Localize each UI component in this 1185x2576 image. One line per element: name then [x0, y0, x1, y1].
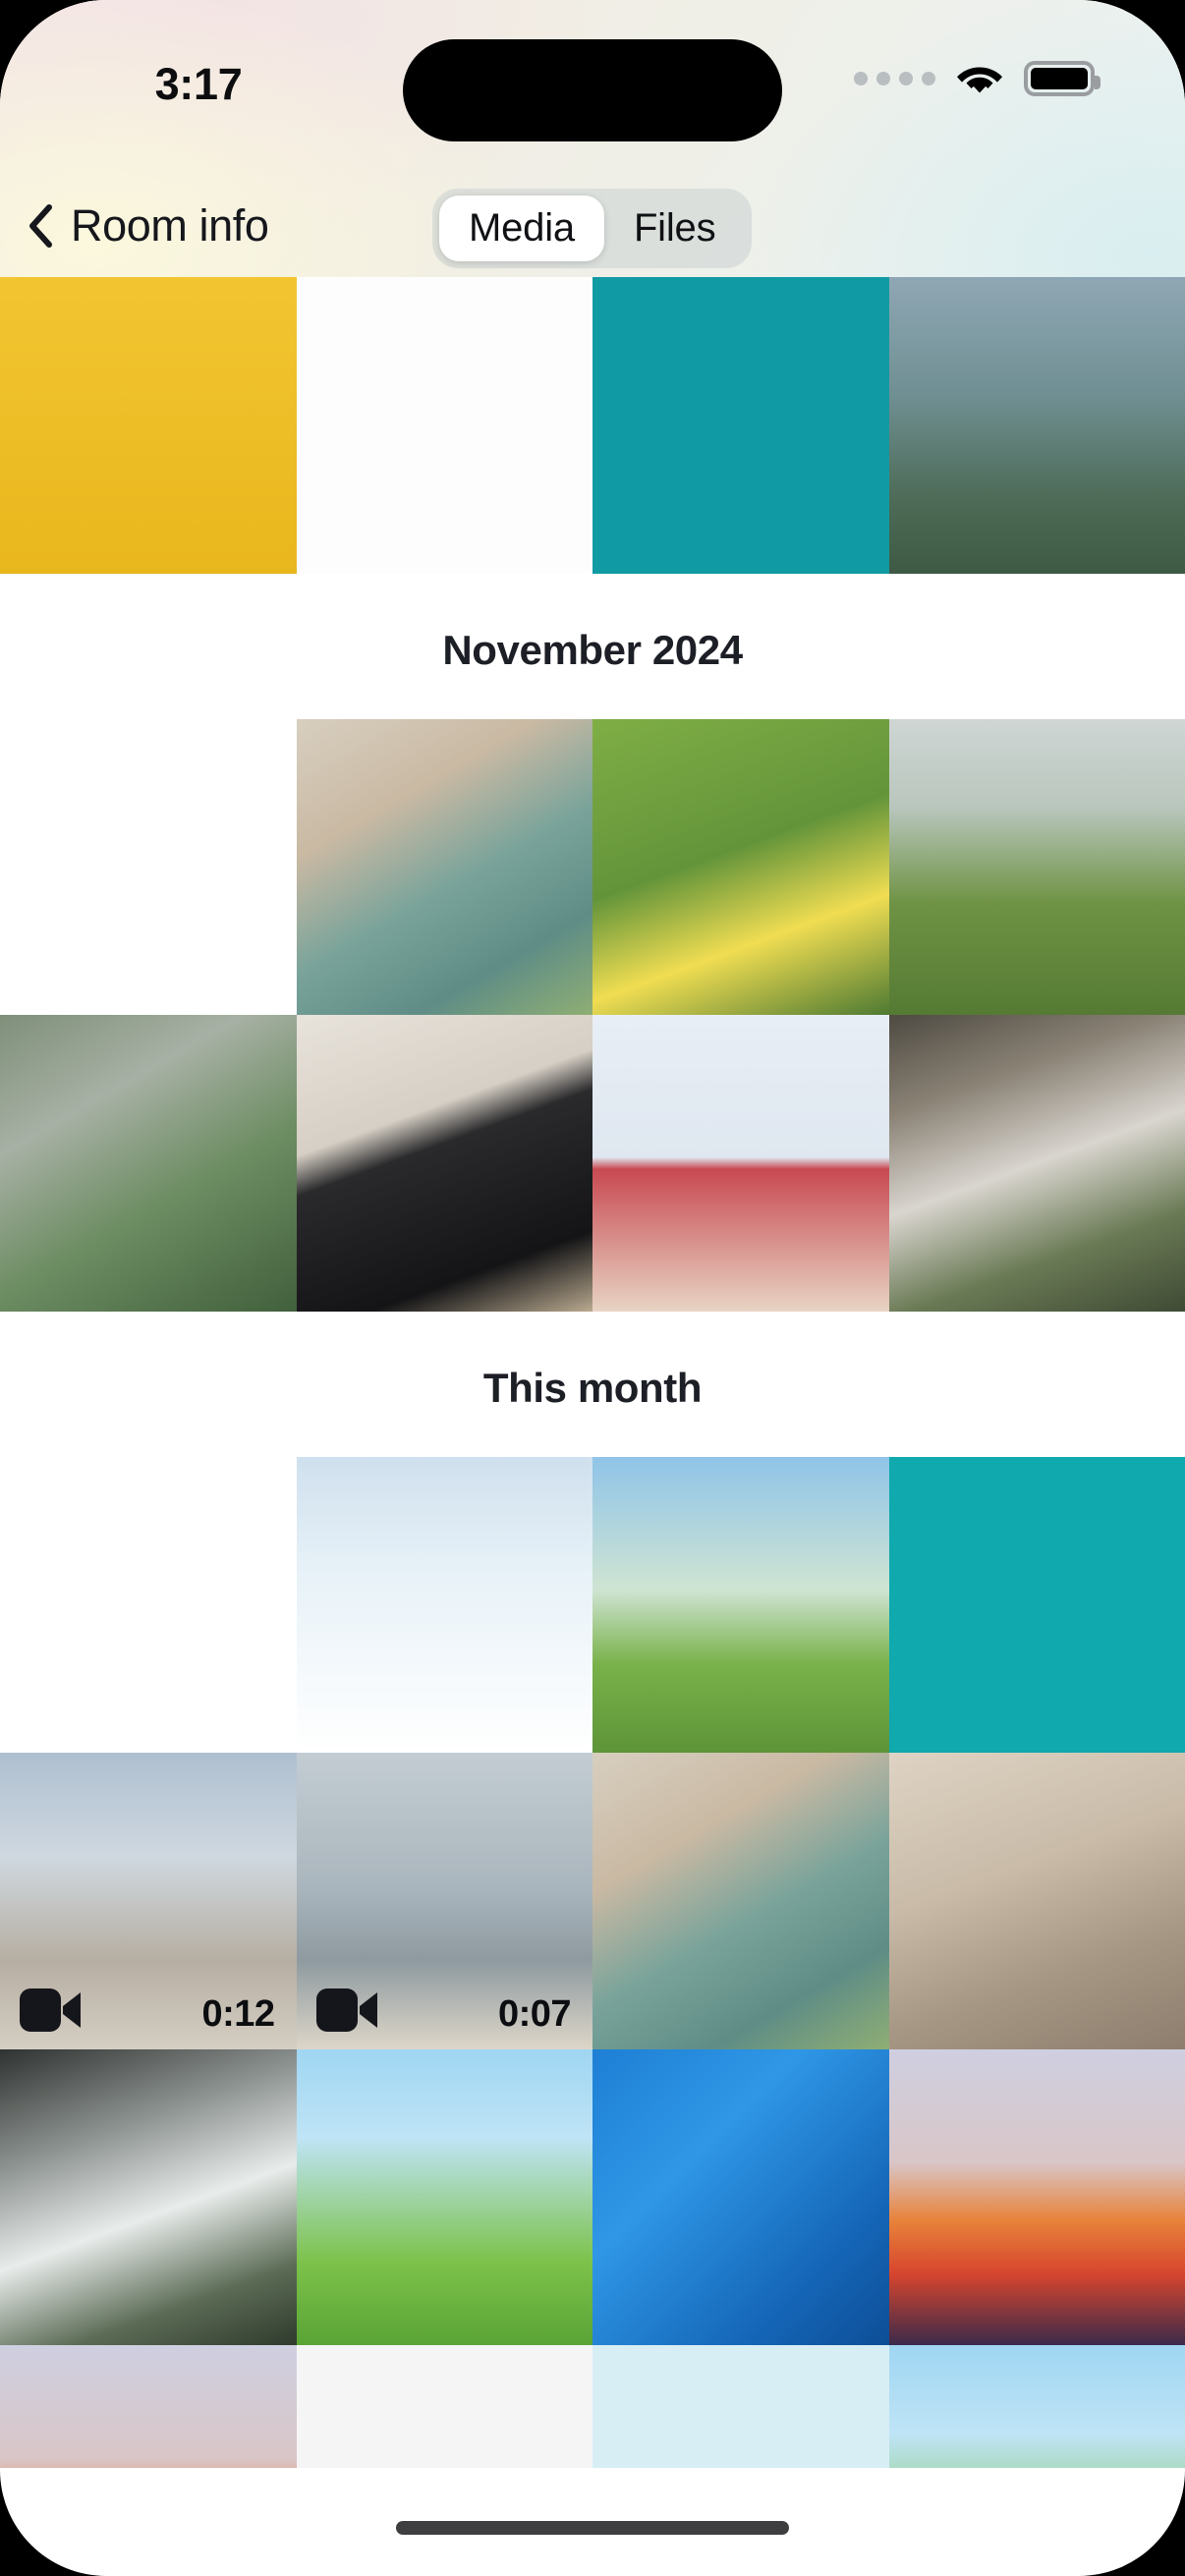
thumbnail-image [592, 719, 889, 1016]
tab-files[interactable]: Files [604, 196, 745, 261]
media-files-segmented-control[interactable]: Media Files [432, 189, 752, 268]
tile-lemon-tree[interactable] [592, 719, 889, 1016]
tile-desert-dune-wallpaper[interactable] [0, 2345, 297, 2468]
thumbnail-image [592, 277, 889, 574]
tile-green-door-flowers[interactable] [592, 1753, 889, 2049]
thumbnail-image [889, 1753, 1185, 2049]
app-header: 3:17 Room info [0, 0, 1185, 277]
thumbnail-image [297, 1457, 593, 1754]
thumbnail-image [889, 719, 1185, 1016]
tile-green-door-flowers[interactable] [297, 719, 593, 1016]
thumbnail-image [0, 277, 297, 574]
navigation-bar: Room info Media Files [0, 175, 1185, 277]
media-grid [0, 277, 1185, 574]
tile-pixel-character-teal[interactable] [889, 1457, 1185, 1754]
media-grid-scroll[interactable]: November 2024This month0:120:07 [0, 277, 1185, 2468]
status-bar-indicators [854, 61, 1095, 96]
tile-blue-abstract-wallpaper[interactable] [592, 2049, 889, 2346]
dynamic-island [403, 39, 782, 141]
media-section-header: This month [0, 1312, 1185, 1457]
video-duration-label: 0:12 [201, 1993, 274, 2036]
home-indicator [396, 2521, 789, 2535]
status-bar-clock: 3:17 [120, 59, 277, 110]
tile-paint-drip-art[interactable] [592, 2345, 889, 2468]
phone-screen: 3:17 Room info [0, 0, 1185, 2576]
tile-field-flower[interactable] [889, 719, 1185, 1016]
thumbnail-image [297, 2345, 593, 2468]
back-button[interactable]: Room info [28, 200, 269, 252]
battery-full-icon [1024, 61, 1095, 96]
tile-rainbow-landscape[interactable] [297, 2049, 593, 2346]
tile-pixel-sprite-teal[interactable] [592, 277, 889, 574]
video-camera-icon [316, 1988, 377, 2032]
wifi-icon [957, 62, 1002, 95]
thumbnail-image [889, 2345, 1185, 2468]
tile-emperor-penguins[interactable] [297, 1457, 593, 1754]
thumbnail-image [0, 2049, 297, 2346]
tile-comic-meme[interactable] [592, 1015, 889, 1312]
signal-dots-icon [854, 72, 935, 85]
tile-desktop-computer[interactable] [297, 1015, 593, 1312]
thumbnail-image [297, 719, 593, 1016]
tile-video-street-crowd[interactable]: 0:12 [0, 1753, 297, 2049]
tile-waterfall-monochrome[interactable] [0, 2049, 297, 2346]
thumbnail-image [0, 1015, 297, 1312]
page-title: Room info [71, 200, 269, 252]
tab-media[interactable]: Media [439, 196, 604, 261]
tile-blossom-tree[interactable] [592, 1457, 889, 1754]
media-grid [0, 719, 1185, 1312]
tile-waterfall-cliff[interactable] [0, 1015, 297, 1312]
video-camera-icon [20, 1988, 81, 2032]
tile-video-seaside-pier[interactable]: 0:07 [297, 1753, 593, 2049]
thumbnail-image [889, 1015, 1185, 1312]
tile-mossy-waterfall[interactable] [889, 1015, 1185, 1312]
chevron-left-icon [28, 204, 53, 248]
thumbnail-image [889, 277, 1185, 574]
status-bar: 3:17 [0, 0, 1185, 167]
grid-spacer [0, 1457, 297, 1754]
tile-hello-lettering[interactable] [297, 2345, 593, 2468]
thumbnail-image [0, 2345, 297, 2468]
media-grid: 0:120:07 [0, 1457, 1185, 2469]
tile-pixel-sprite-white[interactable] [297, 277, 593, 574]
thumbnail-image [592, 1753, 889, 2049]
tile-rainbow-landscape[interactable] [889, 2345, 1185, 2468]
tile-desert-dune-wallpaper[interactable] [889, 2049, 1185, 2346]
grid-spacer [0, 719, 297, 1016]
thumbnail-image [889, 2049, 1185, 2346]
tile-gold-chest[interactable] [0, 277, 297, 574]
media-section-header: November 2024 [0, 574, 1185, 719]
tile-lake-boats[interactable] [889, 277, 1185, 574]
thumbnail-image [297, 1015, 593, 1312]
thumbnail-image [297, 277, 593, 574]
thumbnail-image [297, 2049, 593, 2346]
thumbnail-image [592, 2049, 889, 2346]
thumbnail-image [592, 1457, 889, 1754]
thumbnail-image [592, 1015, 889, 1312]
thumbnail-image [592, 2345, 889, 2468]
thumbnail-image [889, 1457, 1185, 1754]
video-duration-label: 0:07 [498, 1993, 571, 2036]
tile-sleeping-kitten[interactable] [889, 1753, 1185, 2049]
